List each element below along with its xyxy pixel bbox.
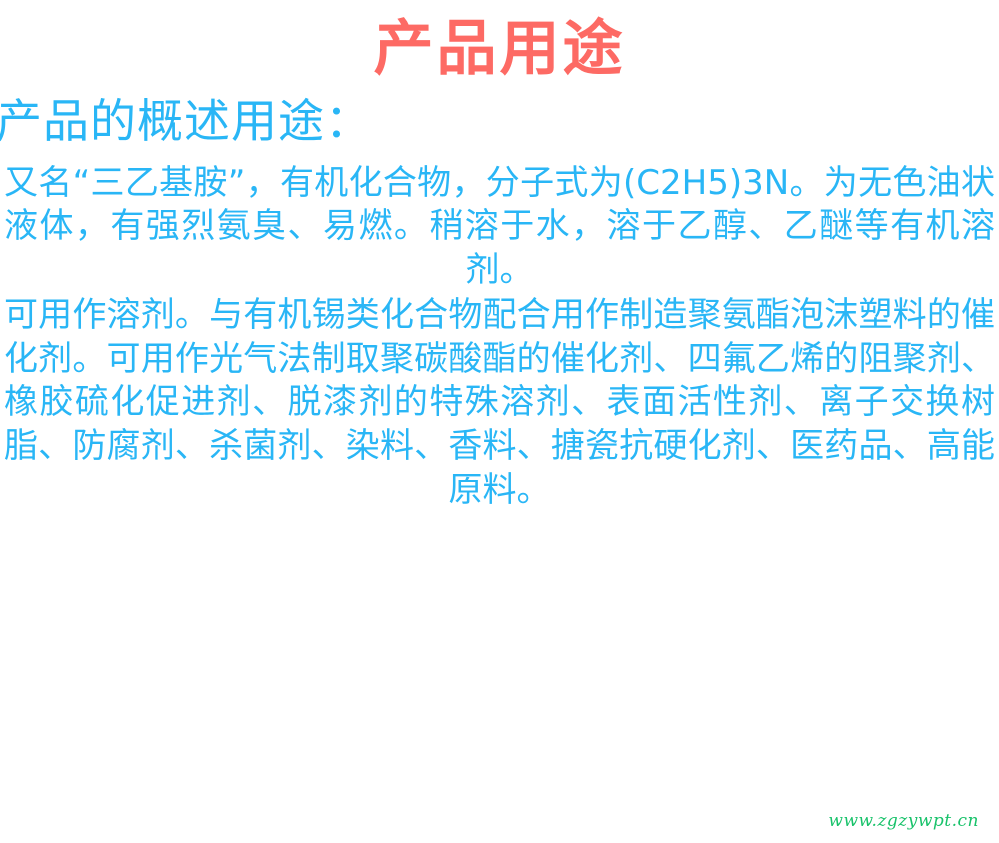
page-title: 产品用途 xyxy=(0,18,999,81)
watermark-url: www.zgzywpt.cn xyxy=(828,811,979,831)
body-text: 又名“三乙基胺”，有机化合物，分子式为(C2H5)3N。为无色油状液体，有强烈氨… xyxy=(0,162,999,512)
slide-page: 产品用途 产品的概述用途： 又名“三乙基胺”，有机化合物，分子式为(C2H5)3… xyxy=(0,18,999,843)
paragraph-applications: 可用作溶剂。与有机锡类化合物配合用作制造聚氨酯泡沫塑料的催化剂。可用作光气法制取… xyxy=(0,294,999,512)
paragraph-description: 又名“三乙基胺”，有机化合物，分子式为(C2H5)3N。为无色油状液体，有强烈氨… xyxy=(0,162,999,293)
section-heading: 产品的概述用途： xyxy=(0,95,999,148)
